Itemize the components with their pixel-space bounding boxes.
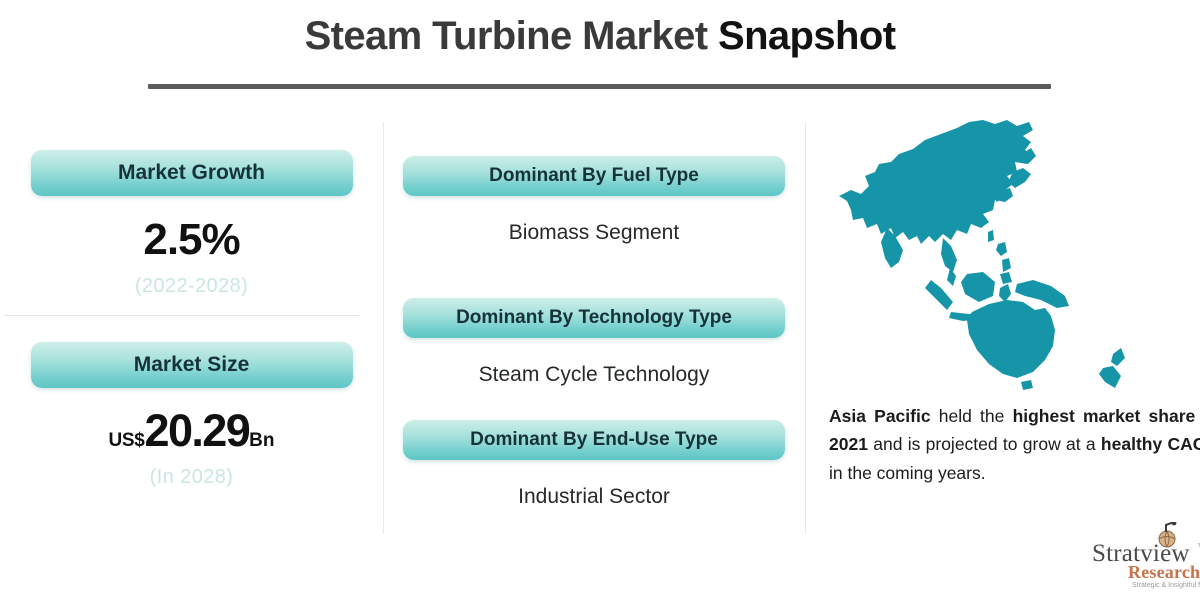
dominant-technology-type-label: Dominant By Technology Type	[456, 307, 732, 329]
market-growth-pill: Market Growth	[31, 150, 353, 196]
logo-tagline: Strategic & Insightful Market Research	[1132, 582, 1200, 589]
market-growth-block: Market Growth 2.5% (2022-2028)	[0, 150, 383, 298]
market-size-amount: 20.29	[145, 408, 250, 453]
market-growth-pill-label: Market Growth	[118, 161, 265, 185]
market-size-value: US$20.29Bn	[0, 408, 383, 453]
region-note-seg1: Asia Pacific	[829, 406, 931, 426]
stratview-research-logo: Stratview ™ Research Strategic & Insight…	[1092, 522, 1200, 594]
region-note-seg6: in the coming years.	[829, 463, 986, 483]
title-underline-rule	[148, 84, 1051, 89]
header: Steam Turbine Market Snapshot	[0, 14, 1200, 59]
page-title-strong: Snapshot	[718, 14, 895, 58]
market-size-block: Market Size US$20.29Bn (In 2028)	[0, 342, 383, 489]
dominant-fuel-type-pill: Dominant By Fuel Type	[403, 156, 785, 196]
infographic-page: Steam Turbine Market Snapshot Market Gro…	[0, 0, 1200, 600]
asia-pacific-map-icon	[817, 116, 1200, 396]
market-size-unit: Bn	[249, 431, 274, 450]
market-growth-period: (2022-2028)	[0, 275, 383, 298]
region-note-seg4: and is projected to grow at a	[868, 434, 1101, 454]
dominant-end-use-type-block: Dominant By End-Use Type Industrial Sect…	[383, 420, 805, 509]
dominant-end-use-type-label: Dominant By End-Use Type	[470, 429, 718, 451]
page-title-lead: Steam Turbine Market	[305, 14, 718, 58]
middle-column: Dominant By Fuel Type Biomass Segment Do…	[383, 122, 805, 534]
dominant-end-use-type-value: Industrial Sector	[383, 485, 805, 509]
logo-brand-secondary: Research	[1128, 562, 1200, 583]
dominant-technology-type-value: Steam Cycle Technology	[383, 363, 805, 387]
dominant-fuel-type-value: Biomass Segment	[383, 221, 805, 245]
dominant-fuel-type-label: Dominant By Fuel Type	[489, 165, 699, 187]
region-insight-note: Asia Pacific held the highest market sha…	[829, 402, 1200, 487]
page-title: Steam Turbine Market Snapshot	[0, 14, 1200, 59]
market-size-pill-label: Market Size	[134, 353, 250, 377]
left-column: Market Growth 2.5% (2022-2028) Market Si…	[0, 122, 383, 534]
market-size-currency: US$	[108, 431, 144, 450]
dominant-technology-type-pill: Dominant By Technology Type	[403, 298, 785, 338]
market-size-year: (In 2028)	[0, 466, 383, 489]
dominant-fuel-type-block: Dominant By Fuel Type Biomass Segment	[383, 156, 805, 245]
dominant-end-use-type-pill: Dominant By End-Use Type	[403, 420, 785, 460]
region-note-seg5: healthy CAGR	[1101, 434, 1200, 454]
market-growth-value: 2.5%	[0, 218, 383, 262]
dominant-technology-type-block: Dominant By Technology Type Steam Cycle …	[383, 298, 805, 387]
region-note-seg2: held the	[931, 406, 1013, 426]
market-size-pill: Market Size	[31, 342, 353, 388]
